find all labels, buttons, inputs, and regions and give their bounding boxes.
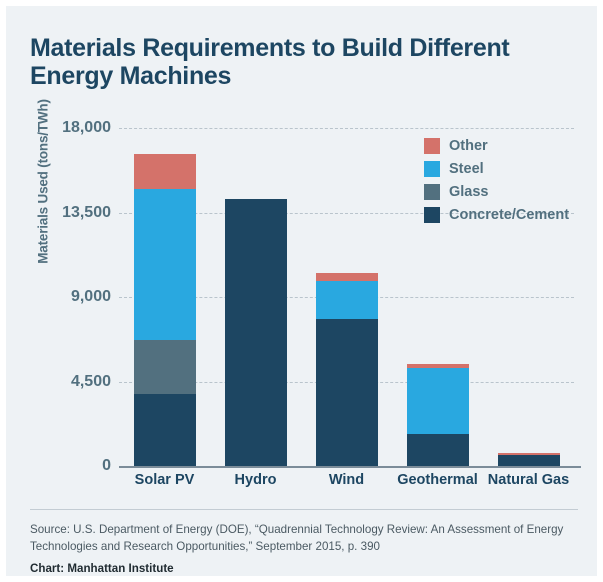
legend-item-label: Glass [449,184,489,200]
chart-title: Materials Requirements to Build Differen… [30,34,570,90]
legend-item-label: Concrete/Cement [449,207,569,223]
y-axis-ticks: 04,5009,00013,50018,000 [39,128,111,466]
legend-item[interactable]: Other [424,135,569,157]
bar-segment[interactable] [316,273,378,281]
legend-swatch-icon [424,161,440,177]
legend-item[interactable]: Steel [424,158,569,180]
chart-legend: OtherSteelGlassConcrete/Cement [424,135,569,227]
bar-segment[interactable] [225,199,287,466]
x-axis-tick-label: Solar PV [119,472,210,488]
y-axis-tick-label: 4,500 [47,373,111,391]
x-axis-tick-label: Hydro [210,472,301,488]
x-axis-tick-label: Geothermal [392,472,483,488]
bar-segment[interactable] [134,154,196,189]
bar-slot: Solar PV [119,128,210,466]
bar-segment[interactable] [498,455,560,466]
stacked-bar[interactable] [134,154,196,466]
chart-credit: Chart: Manhattan Institute [30,562,174,575]
y-axis-tick-label: 18,000 [47,119,111,137]
bar-segment[interactable] [134,340,196,394]
bar-segment[interactable] [407,368,469,434]
bar-segment[interactable] [316,281,378,319]
legend-item[interactable]: Glass [424,181,569,203]
chart-figure: Materials Requirements to Build Differen… [0,0,603,582]
bar-segment[interactable] [134,189,196,340]
legend-swatch-icon [424,138,440,154]
bar-slot: Hydro [210,128,301,466]
bar-segment[interactable] [407,434,469,466]
y-axis-tick-label: 13,500 [47,204,111,222]
stacked-bar[interactable] [407,364,469,466]
x-axis-tick-label: Natural Gas [483,472,574,488]
legend-swatch-icon [424,207,440,223]
y-axis-tick-label: 9,000 [47,288,111,306]
chart-canvas: Materials Requirements to Build Differen… [6,6,597,576]
stacked-bar[interactable] [316,273,378,466]
legend-swatch-icon [424,184,440,200]
bar-segment[interactable] [316,319,378,466]
legend-item-label: Steel [449,161,484,177]
stacked-bar[interactable] [225,199,287,466]
bar-slot: Wind [301,128,392,466]
source-note: Source: U.S. Department of Energy (DOE),… [30,522,578,556]
footer-divider [30,509,578,510]
x-axis-line [119,466,581,468]
legend-item[interactable]: Concrete/Cement [424,204,569,226]
y-axis-tick-label: 0 [47,457,111,475]
stacked-bar[interactable] [498,453,560,466]
legend-item-label: Other [449,138,488,154]
bar-segment[interactable] [134,394,196,466]
x-axis-tick-label: Wind [301,472,392,488]
